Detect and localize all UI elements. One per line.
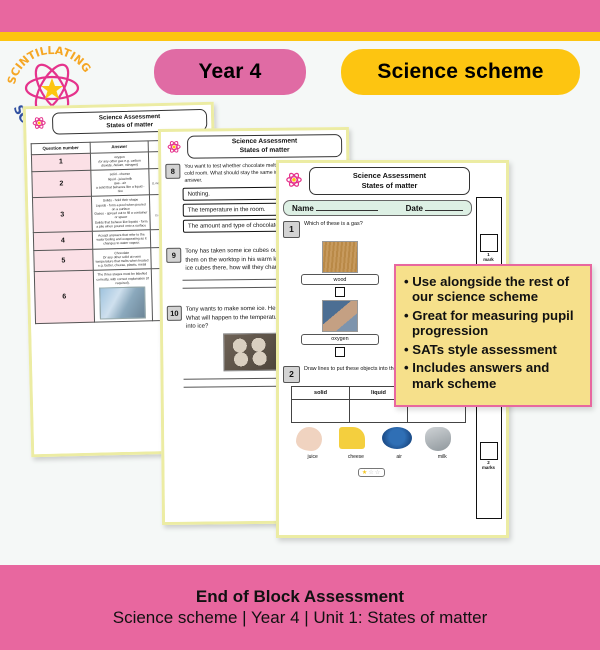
option-label: wood [301,274,379,285]
object-cheese[interactable]: cheese [339,427,373,460]
mini-logo-icon [164,137,184,157]
evaporation-diagram-thumbnail [100,287,147,320]
question-1: 1 Which of these is a gas? [279,218,506,238]
mark-label: 2 marks [480,461,497,471]
milk-icon [425,427,451,451]
cheese-icon [339,427,365,449]
wood-photo [322,241,358,273]
oxygen-photo [322,300,358,332]
top-pink-bar [0,0,600,32]
date-field[interactable]: Date [406,203,463,213]
name-input-rule[interactable] [316,203,378,211]
ice-tray-photo [223,333,277,372]
option-wood[interactable]: wood [301,241,379,298]
name-field[interactable]: Name [292,203,378,213]
question-number: 10 [167,306,182,321]
star-rating: ★☆☆ [358,468,385,477]
tick-checkbox[interactable] [335,347,345,357]
question-number: 2 [283,366,300,383]
option-oxygen[interactable]: oxygen [301,300,379,357]
name-date-bar: Name Date [283,200,472,216]
option-label: oxygen [301,334,379,345]
row-answer: oxygen (or any other gas e.g. carbon dio… [90,151,149,170]
question-number: 9 [166,248,181,263]
question-number: 8 [165,164,180,179]
row-question-number: 5 [34,249,93,272]
mini-logo-icon [29,114,49,134]
tick-checkbox[interactable] [335,287,345,297]
callout-bullet: • SATs style assessment [404,342,582,357]
sheet-title: Science Assessment States of matter [187,134,342,159]
mark-label: 1 mark [480,253,497,263]
row-question-number: 2 [32,171,91,199]
question-text: Which of these is a gas? [304,221,470,238]
drop-cell-solid[interactable] [292,399,350,422]
object-row: juice cheese air milk [291,427,464,460]
year-pill[interactable]: Year 4 [154,49,306,95]
object-label: juice [296,454,330,460]
features-callout: • Use alongside the rest of our science … [394,264,592,407]
sheet-header: Science Assessment States of matter [161,130,346,161]
question-number: 1 [283,221,300,238]
footer-subtitle: Science scheme | Year 4 | Unit 1: States… [113,608,488,628]
row-answer: Solids - hold their shape Liquids - form… [91,195,150,231]
footer-banner: End of Block Assessment Science scheme |… [0,565,600,650]
row-question-number: 6 [34,271,94,324]
difficulty-rating: ★☆☆ [279,461,464,479]
mark-input-box[interactable] [480,442,498,460]
object-milk[interactable]: milk [425,427,459,460]
sheet-title: Science Assessment States of matter [309,167,470,195]
object-label: cheese [339,454,373,460]
svg-text:SCINTILLATING: SCINTILLATING [5,44,93,86]
object-air[interactable]: air [382,427,416,460]
row-answer: Accept answers that refer to the water b… [92,230,151,249]
mark-input-box[interactable] [480,234,498,252]
row-answer: Chocolate Or any other solid at room tem… [92,247,151,270]
mini-logo-icon [282,169,306,193]
air-balloon-icon [382,427,412,449]
juice-icon [296,427,322,451]
marks-entry-q2: 2 marks [480,442,497,471]
callout-bullet: • Includes answers and mark scheme [404,360,582,391]
row-question-number: 1 [31,153,90,172]
callout-bullet: • Great for measuring pupil progression [404,308,582,339]
row-question-number: 3 [32,197,91,233]
name-label: Name [292,204,314,213]
sheet-header: Science Assessment States of matter [279,163,506,197]
marks-entry-q1: 1 mark [480,234,497,263]
date-input-rule[interactable] [425,203,463,211]
poster-page: SCINTILLATING SCIENCE Year 4 Science sch… [0,0,600,650]
date-label: Date [406,204,423,213]
footer-title: End of Block Assessment [196,587,404,607]
row-answer: solid - cheese liquid - juice/milk gas -… [90,169,149,197]
row-answer: The three stages must be labelled correc… [93,269,153,322]
object-label: milk [425,454,459,460]
scheme-pill[interactable]: Science scheme [341,49,580,95]
callout-bullet: • Use alongside the rest of our science … [404,274,582,305]
top-yellow-bar [0,32,600,41]
object-juice[interactable]: juice [296,427,330,460]
object-label: air [382,454,416,460]
row-question-number: 4 [33,231,92,250]
col-solid: solid [292,386,350,399]
